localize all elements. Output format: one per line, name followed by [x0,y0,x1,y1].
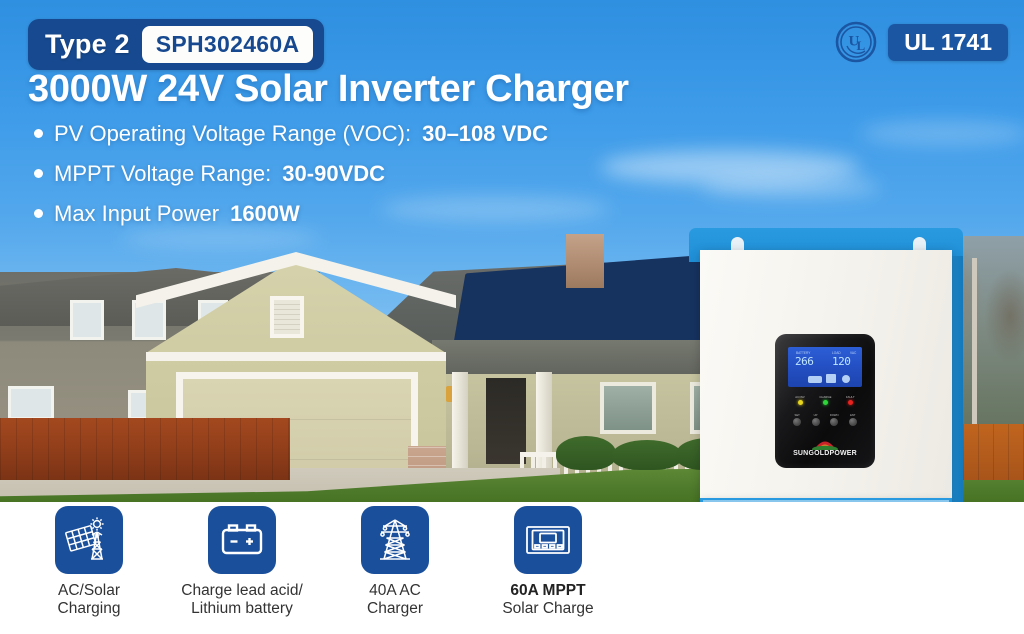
push-button-icon[interactable] [849,418,857,426]
svg-text:L: L [857,38,866,53]
type-badge: Type 2 SPH302460A [28,19,324,70]
type-label: Type 2 [45,29,130,60]
ul-standard-badge: UL 1741 [888,24,1008,61]
spec-bullet-item: MPPT Voltage Range: 30-90VDC [34,161,548,187]
button-label: DOWN [830,414,839,417]
led-label: FAULT [846,396,855,399]
spec-value: 30–108 VDC [422,121,548,147]
led-label: CHARGE [819,396,831,399]
bullet-dot-icon [34,169,43,178]
control-panel: BATTERY 266 LOAD VAC 120 AC/INV CHARGE [775,334,875,468]
battery-icon [208,506,276,574]
feature-caption: Charge lead acid/ Lithium battery [181,582,303,619]
lcd-left-value: 266 [795,355,813,368]
cloud-decoration [700,176,880,198]
spec-text: MPPT Voltage Range: [54,161,271,187]
sungold-sunrise-logo-icon [808,435,842,450]
ul-mark-icon: U L [834,20,878,64]
feature-item-ac-charger[interactable]: 40A AC Charger [340,506,450,619]
sku-label: SPH302460A [142,26,314,63]
spec-text: Max Input Power [54,201,219,227]
shrub [612,440,682,470]
button-label: ENT [850,414,855,417]
lcd-right-value: 120 [832,355,850,368]
feature-caption: 60A MPPT Solar Charge [502,582,593,619]
button-set[interactable]: SET [793,414,801,426]
lcd-battery-icon [808,376,822,383]
feature-caption-line1: 40A AC [369,582,421,599]
gable-window [270,296,304,338]
led-indicator-icon [798,400,803,405]
shrub [556,436,616,470]
solar-panel-tower-icon [55,506,123,574]
led-ac-inv: AC/INV [795,396,805,405]
control-button-row[interactable]: SET UP DOWN ENT [788,414,862,426]
spec-text: PV Operating Voltage Range (VOC): [54,121,411,147]
feature-caption-line2: Lithium battery [191,600,293,617]
push-button-icon[interactable] [830,418,838,426]
led-indicator-icon [848,400,853,405]
status-led-row: AC/INV CHARGE FAULT [788,396,862,405]
brick-chimney [566,234,604,288]
spec-bullet-item: Max Input Power 1600W [34,201,548,227]
led-label: AC/INV [795,396,805,399]
button-down[interactable]: DOWN [830,414,839,426]
window [8,386,54,420]
lcd-right-unit: VAC [850,351,856,355]
window [600,382,656,434]
led-charge: CHARGE [819,396,831,405]
spec-bullet-list: PV Operating Voltage Range (VOC): 30–108… [34,121,548,241]
wood-fence-left [0,418,290,480]
feature-item-mppt-solar-charge[interactable]: 60A MPPT Solar Charge [493,506,603,619]
led-fault: FAULT [846,396,855,405]
push-button-icon[interactable] [812,418,820,426]
window [70,300,104,340]
gable-band [146,352,446,361]
feature-item-battery-charging[interactable]: Charge lead acid/ Lithium battery [187,506,297,619]
feature-caption-line1: Charge lead acid/ [181,582,303,599]
button-label: SET [795,414,800,417]
spec-bullet-item: PV Operating Voltage Range (VOC): 30–108… [34,121,548,147]
feature-strip: AC/Solar Charging Char [0,502,1024,634]
page-title: 3000W 24V Solar Inverter Charger [28,68,629,111]
cloud-decoration [860,120,1024,146]
lcd-ac-icon [826,374,836,383]
transmission-tower-icon [361,506,429,574]
feature-item-ac-solar-charging[interactable]: AC/Solar Charging [34,506,144,619]
lcd-load-icon [842,375,850,383]
button-ent[interactable]: ENT [849,414,857,426]
product-banner: Type 2 SPH302460A 3000W 24V Solar Invert… [0,0,1024,634]
mppt-controller-icon [514,506,582,574]
push-button-icon[interactable] [793,418,801,426]
spec-value: 30-90VDC [282,161,385,187]
feature-caption: 40A AC Charger [367,582,423,619]
certification-group: U L UL 1741 [834,20,1008,64]
brand-name: SUNGOLDPOWER [775,450,875,457]
feature-caption-line2: Charger [367,600,423,617]
led-indicator-icon [823,400,828,405]
feature-list: AC/Solar Charging Char [34,506,603,619]
feature-caption: AC/Solar Charging [58,582,121,619]
bullet-dot-icon [34,209,43,218]
inverter-front-casing: BATTERY 266 LOAD VAC 120 AC/INV CHARGE [700,250,952,500]
feature-caption-line1: 60A MPPT [510,582,585,599]
spec-value: 1600W [230,201,300,227]
bullet-dot-icon [34,129,43,138]
feature-caption-line2: Charging [58,600,121,617]
button-label: UP [814,414,818,417]
lcd-display: BATTERY 266 LOAD VAC 120 [788,347,862,387]
button-up[interactable]: UP [812,414,820,426]
feature-caption-line2: Solar Charge [502,600,593,617]
feature-caption-line1: AC/Solar [58,582,120,599]
